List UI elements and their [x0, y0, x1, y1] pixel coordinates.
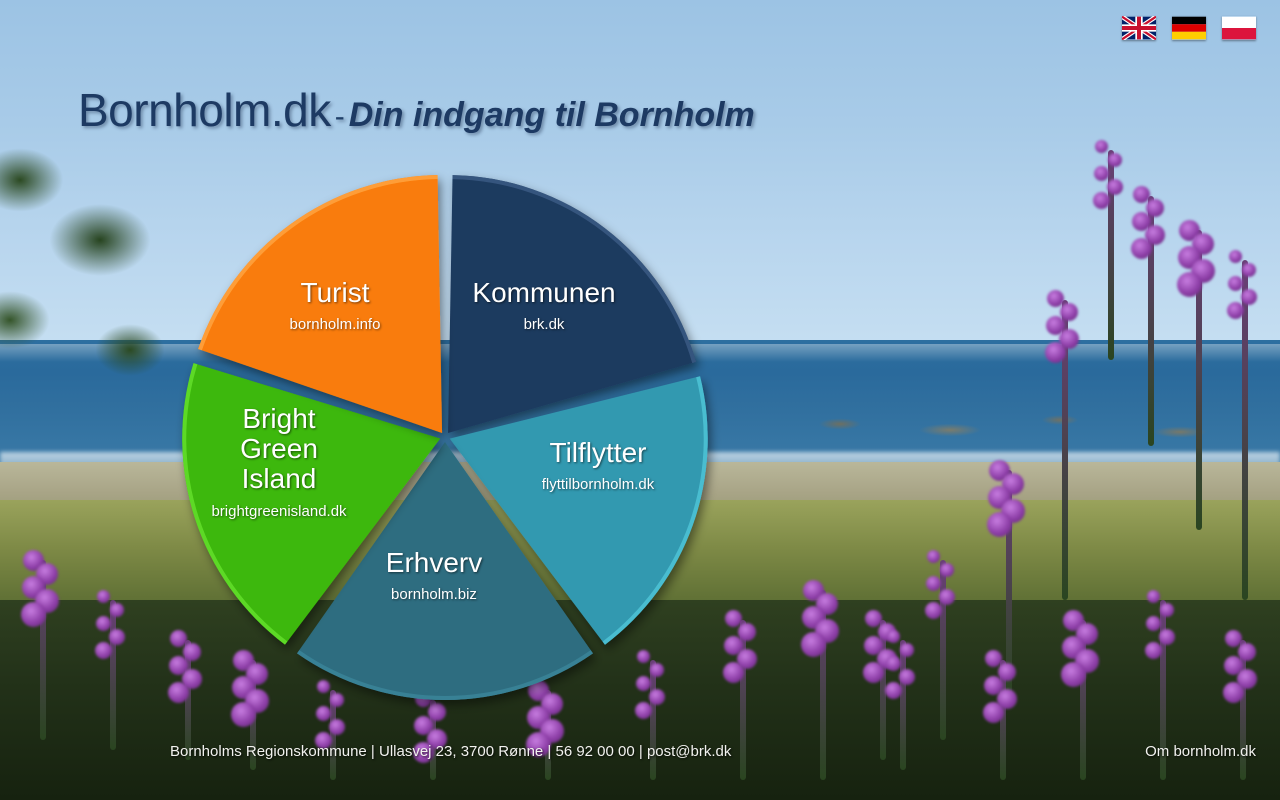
about-site-link[interactable]: Om bornholm.dk — [1145, 743, 1256, 760]
pie-chart-svg — [170, 160, 730, 720]
pie-navigation: Kommunenbrk.dkTilflytterflyttilbornholm.… — [170, 160, 730, 720]
site-tagline: Din indgang til Bornholm — [349, 96, 755, 134]
title-dash: - — [331, 100, 349, 133]
site-name: Bornholm.dk — [78, 84, 331, 136]
language-switcher — [1122, 16, 1256, 40]
flag-uk-icon[interactable] — [1122, 16, 1156, 40]
flag-poland-icon[interactable] — [1222, 16, 1256, 40]
footer-bar: Bornholms Regionskommune | Ullasvej 23, … — [0, 743, 1280, 760]
page-title: Bornholm.dk-Din indgang til Bornholm — [78, 83, 755, 137]
flag-germany-icon[interactable] — [1172, 16, 1206, 40]
footer-contact: Bornholms Regionskommune | Ullasvej 23, … — [170, 743, 731, 760]
